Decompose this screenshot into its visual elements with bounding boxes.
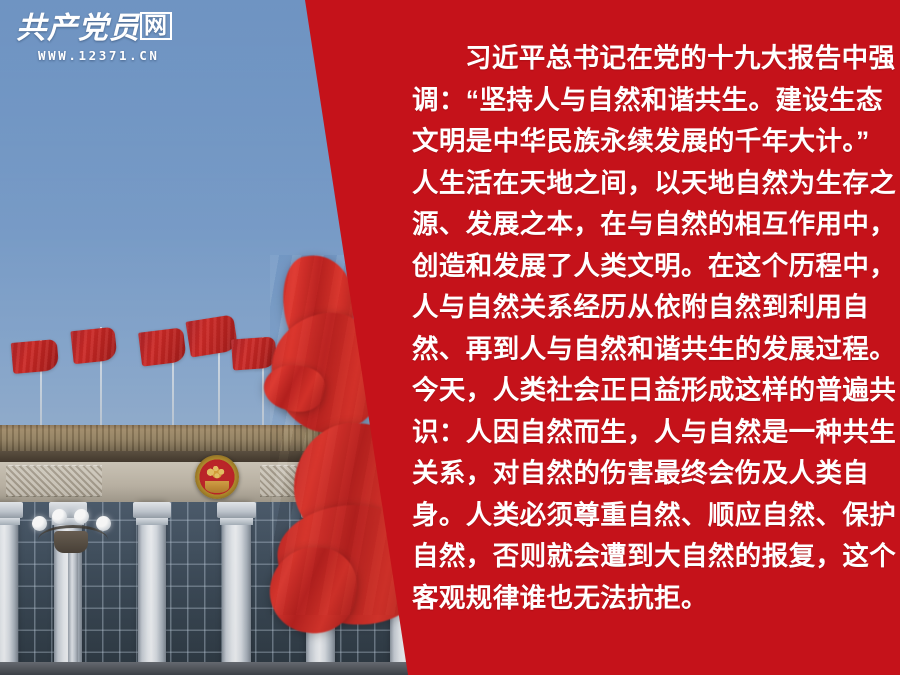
- quote-line: 习近平总书记在党的十九大报告中强: [412, 38, 868, 80]
- quote-line: 今天，人类社会正日益形成这样的普遍共: [412, 370, 868, 412]
- lamp-globe: [96, 516, 111, 531]
- lamp-globe: [74, 509, 89, 524]
- base-plinth: [0, 662, 420, 675]
- frieze-panel: [260, 465, 356, 497]
- column-capital: [217, 502, 256, 518]
- column: [138, 502, 166, 675]
- roof-cornice: [0, 425, 420, 451]
- logo-wordmark-text: 共产党员: [16, 11, 140, 46]
- roof-texture: [0, 425, 420, 451]
- quote-line: 人与自然关系经历从依附自然到利用自: [412, 287, 868, 329]
- lamp-globe: [32, 516, 47, 531]
- logo-wordmark: 共产党员网: [16, 12, 172, 45]
- quote-line: 人生活在天地之间，以天地自然为生存之: [412, 163, 868, 205]
- quote-line: 创造和发展了人类文明。在这个历程中，: [412, 246, 868, 288]
- column: [0, 502, 18, 675]
- rooftop-flag: [11, 339, 60, 374]
- quote-text-block: 习近平总书记在党的十九大报告中强 调：“坚持人与自然和谐共生。建设生态 文明是中…: [412, 38, 868, 619]
- site-logo[interactable]: 共产党员网 WWW.12371.CN: [16, 12, 172, 63]
- lamp-post: [68, 545, 78, 675]
- column-capital: [0, 502, 23, 518]
- quote-line: 源、发展之本，在与自然的相互作用中，: [412, 204, 868, 246]
- logo-wordmark-boxed-char: 网: [140, 12, 172, 40]
- column: [222, 502, 251, 675]
- column-capital: [301, 502, 340, 518]
- poster-canvas: 共产党员网 WWW.12371.CN 习近平总书记在党的十九大报告中强 调：“坚…: [0, 0, 900, 675]
- quote-line: 识：人因自然而生，人与自然是一种共生: [412, 412, 868, 454]
- column-neck: [304, 518, 336, 525]
- column-neck: [220, 518, 252, 525]
- lamp-globe: [52, 509, 67, 524]
- quote-line: 客观规律谁也无法抗拒。: [412, 578, 868, 620]
- quote-line: 然、再到人与自然和谐共生的发展过程。: [412, 329, 868, 371]
- column-capital: [133, 502, 171, 518]
- quote-line: 自然，否则就会遭到大自然的报复，这个: [412, 536, 868, 578]
- quote-line: 身。人类必须尊重自然、顺应自然、保护: [412, 495, 868, 537]
- logo-url: WWW.12371.CN: [38, 48, 172, 63]
- quote-line: 文明是中华民族永续发展的千年大计。”: [412, 121, 868, 163]
- national-emblem-icon: [195, 455, 239, 499]
- quote-line: 调：“坚持人与自然和谐共生。建设生态: [412, 80, 868, 122]
- column-neck: [136, 518, 167, 525]
- lamp-body: [54, 531, 88, 553]
- column: [306, 502, 335, 675]
- quote-line: 关系，对自然的伤害最终会伤及人类自: [412, 453, 868, 495]
- frieze-panel: [6, 465, 102, 497]
- rooftop-flag: [231, 337, 277, 371]
- lamp-head: [30, 505, 116, 549]
- column-neck: [0, 518, 20, 525]
